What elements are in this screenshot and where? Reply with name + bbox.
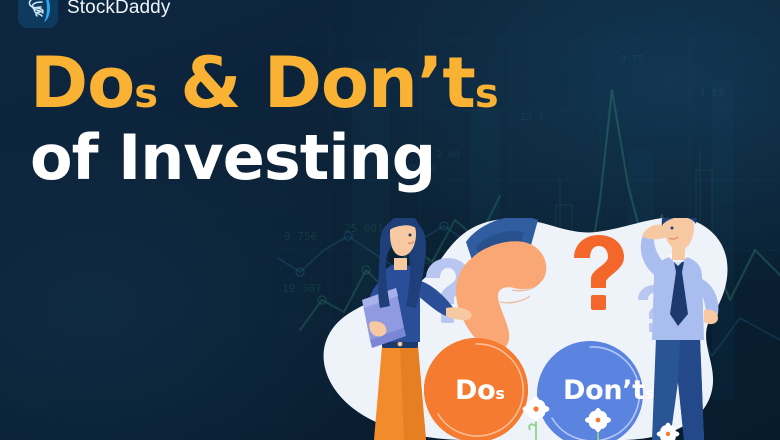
svg-text:1 65: 1 65 (700, 88, 724, 99)
donts-label-main: Don’t (563, 375, 645, 406)
brand-name: StockDaddy (67, 0, 170, 19)
dos-label-main: Do (455, 375, 495, 406)
title-ampersand: & (157, 42, 264, 124)
title-dos-main: Do (30, 42, 134, 124)
title-line-2: of Investing (30, 125, 498, 190)
dos-circle-label: Dos (455, 375, 505, 406)
donts-label-sub: s (645, 384, 654, 403)
dos-and-donts-choice-illustration (300, 218, 780, 440)
title-line-1: Dos & Don’ts (30, 48, 498, 119)
page-title: Dos & Don’ts of Investing (30, 48, 498, 190)
svg-text:9 75: 9 75 (620, 54, 644, 65)
svg-text:23 7: 23 7 (520, 112, 544, 123)
dos-label-sub: s (495, 384, 504, 403)
stockdaddy-swirl-logo-icon (18, 0, 58, 28)
donts-circle-label: Don’ts (563, 375, 654, 406)
brand-logo[interactable]: StockDaddy (18, 0, 170, 28)
poster-canvas: 9 756 25 001 19 307 23 746 4 852 1 653 2… (0, 0, 780, 440)
title-donts-main: Don’t (264, 42, 475, 124)
title-dos-sub: s (134, 71, 157, 117)
title-donts-sub: s (475, 71, 498, 117)
